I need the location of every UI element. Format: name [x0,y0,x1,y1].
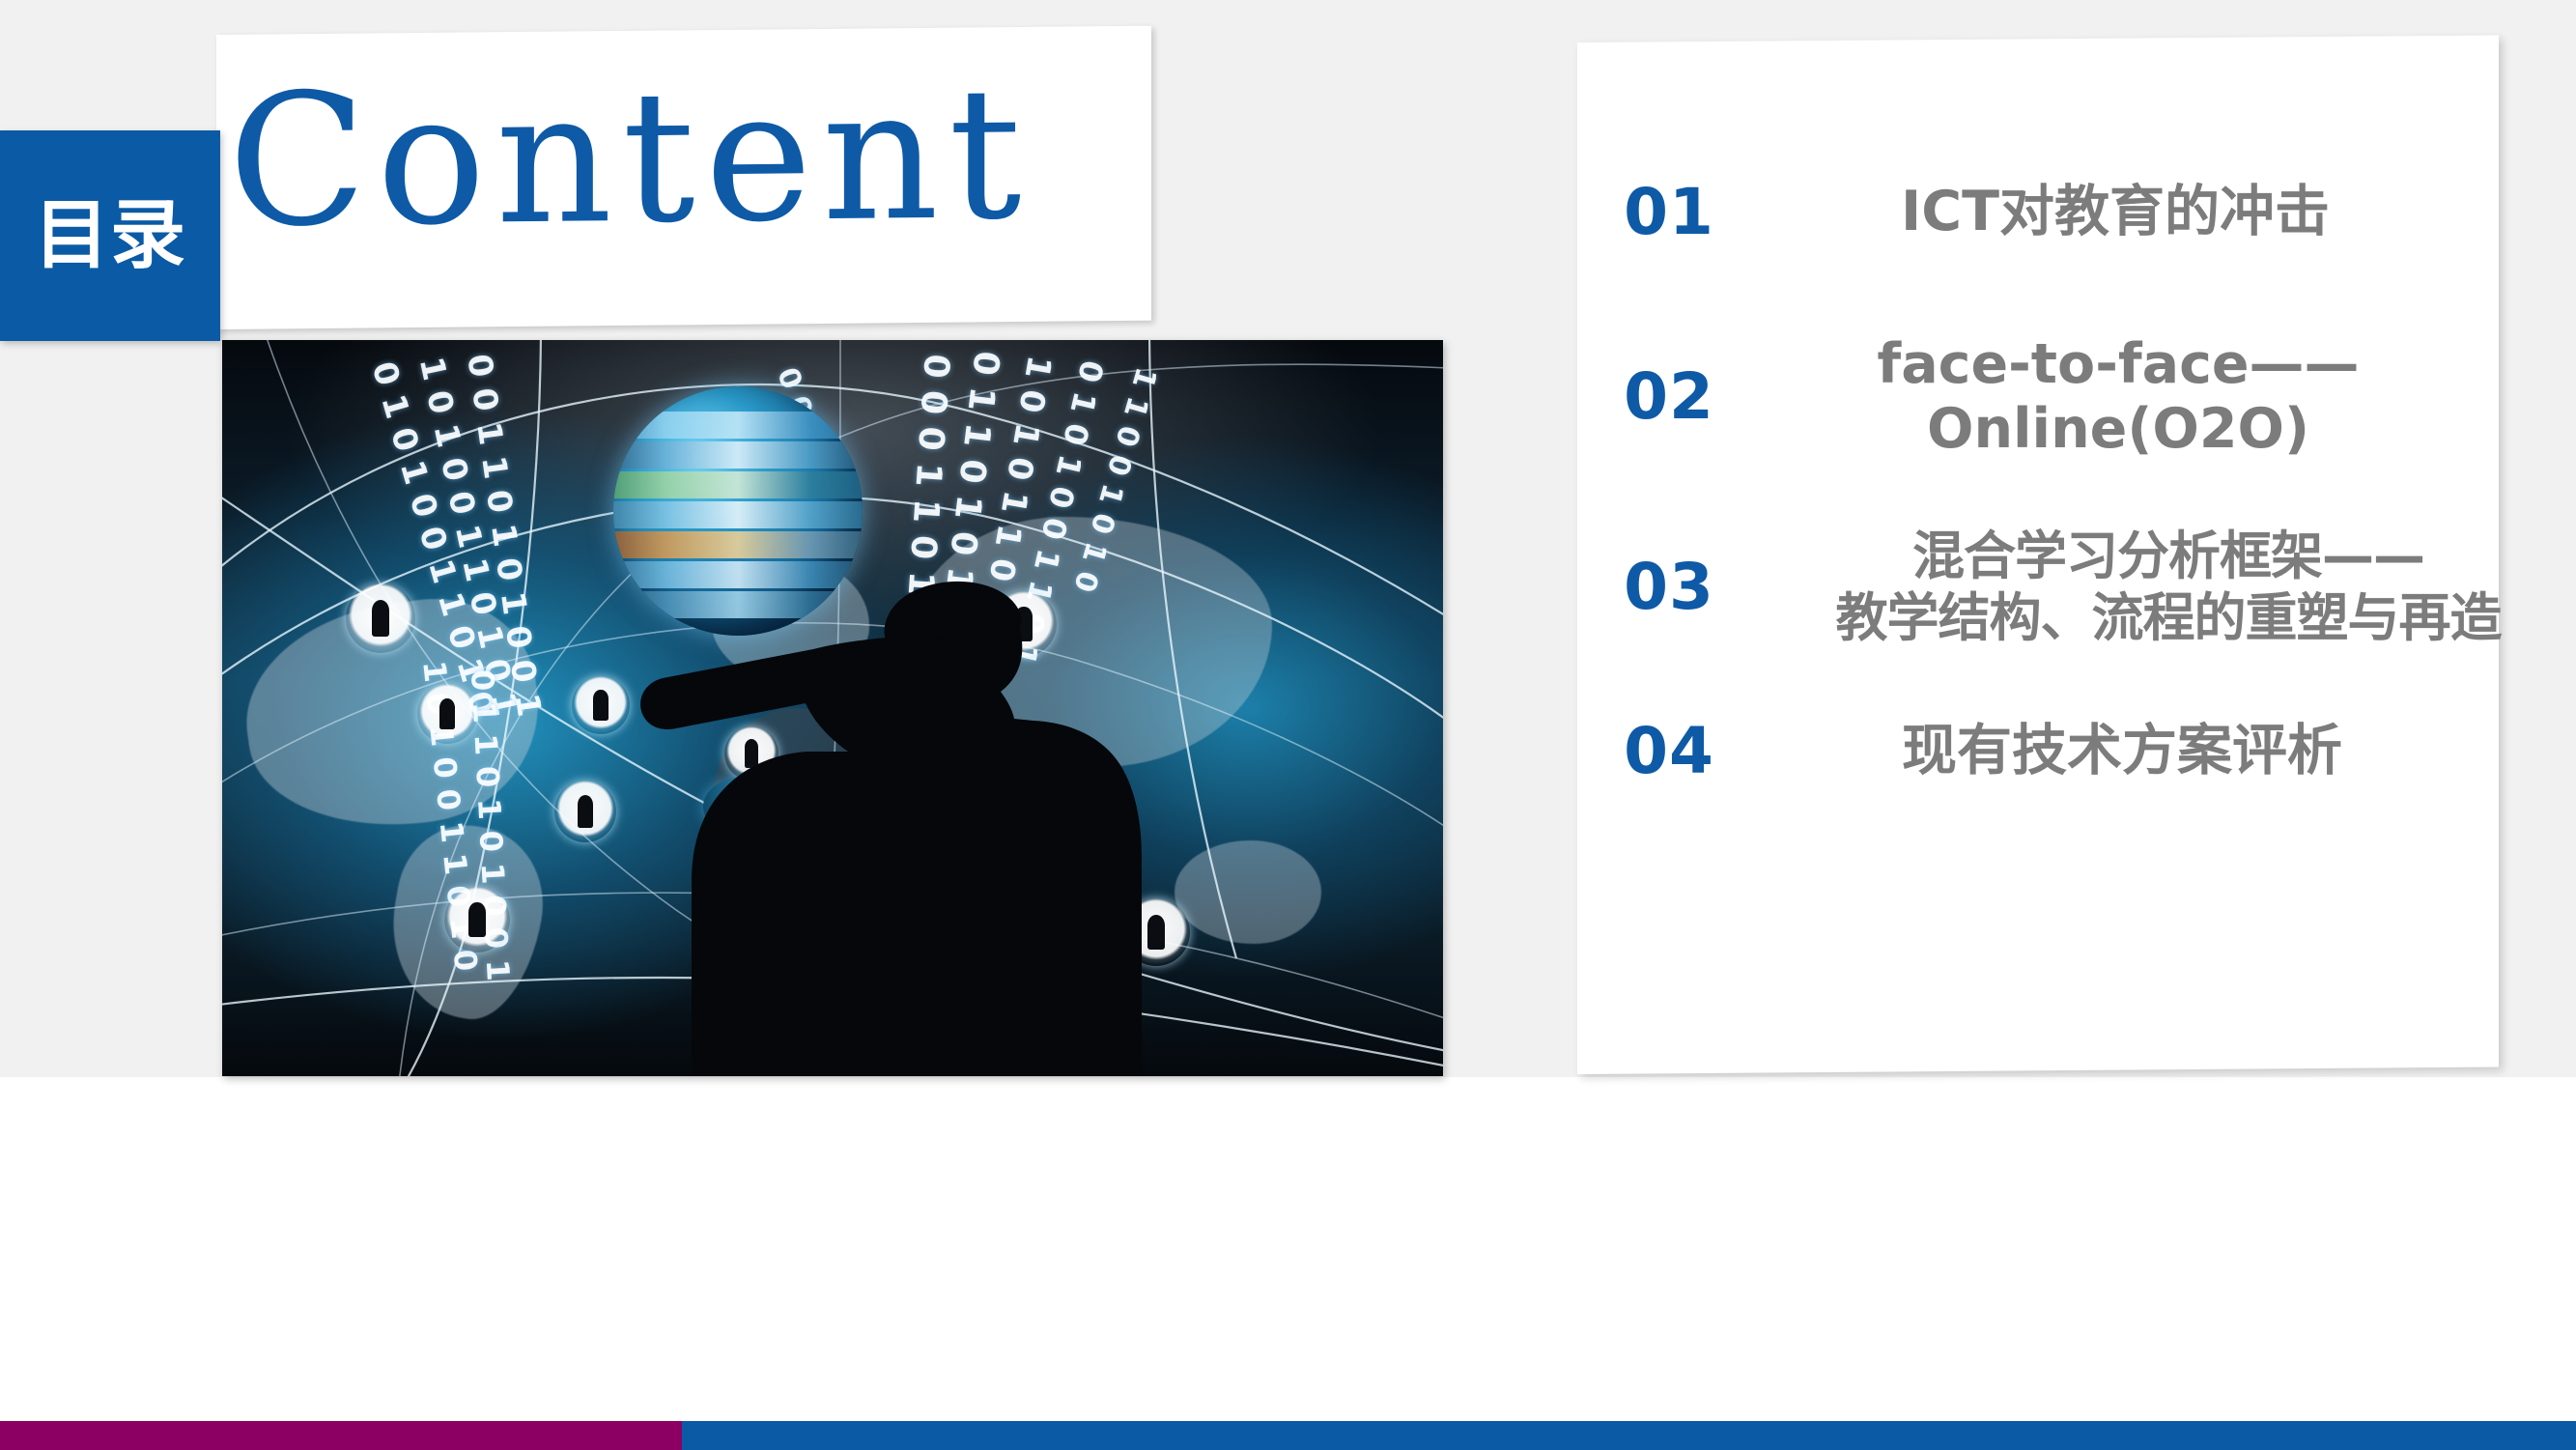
toc-item-04[interactable]: 04 现有技术方案评析 [1577,719,2576,783]
toc-number: 03 [1577,555,1761,619]
catalog-tab: 目录 [0,130,220,341]
bottom-bar-magenta-segment [0,1421,682,1450]
toc-number: 02 [1577,365,1761,429]
toc-label: 混合学习分析框架—— 教学结构、流程的重塑与再造 [1761,526,2576,648]
ict-global-network-image: 0 1 0 1 0 0 1 1 0 1 0 1 0 1 0 0 1 1 0 1 … [222,340,1443,1076]
page-title: Content [228,49,1146,267]
toc-label: ICT对教育的冲击 [1761,180,2576,244]
toc-label: face-to-face—— Online(O2O) [1761,332,2576,463]
toc-item-03[interactable]: 03 混合学习分析框架—— 教学结构、流程的重塑与再造 [1577,526,2576,648]
bottom-bar-blue-segment [682,1421,2576,1450]
toc-number: 04 [1577,720,1761,783]
toc-number: 01 [1577,181,1761,244]
bottom-accent-bar [0,1421,2576,1450]
person-silhouette-icon [222,340,1443,1076]
toc-label: 现有技术方案评析 [1761,719,2576,783]
catalog-tab-label: 目录 [34,198,186,273]
toc-item-01[interactable]: 01 ICT对教育的冲击 [1577,180,2576,244]
slide-canvas: Content 目录 0 1 0 1 0 0 1 1 0 1 0 1 0 [0,0,2576,1450]
table-of-contents: 01 ICT对教育的冲击 02 face-to-face—— Online(O2… [1577,43,2576,1074]
toc-item-02[interactable]: 02 face-to-face—— Online(O2O) [1577,332,2576,463]
